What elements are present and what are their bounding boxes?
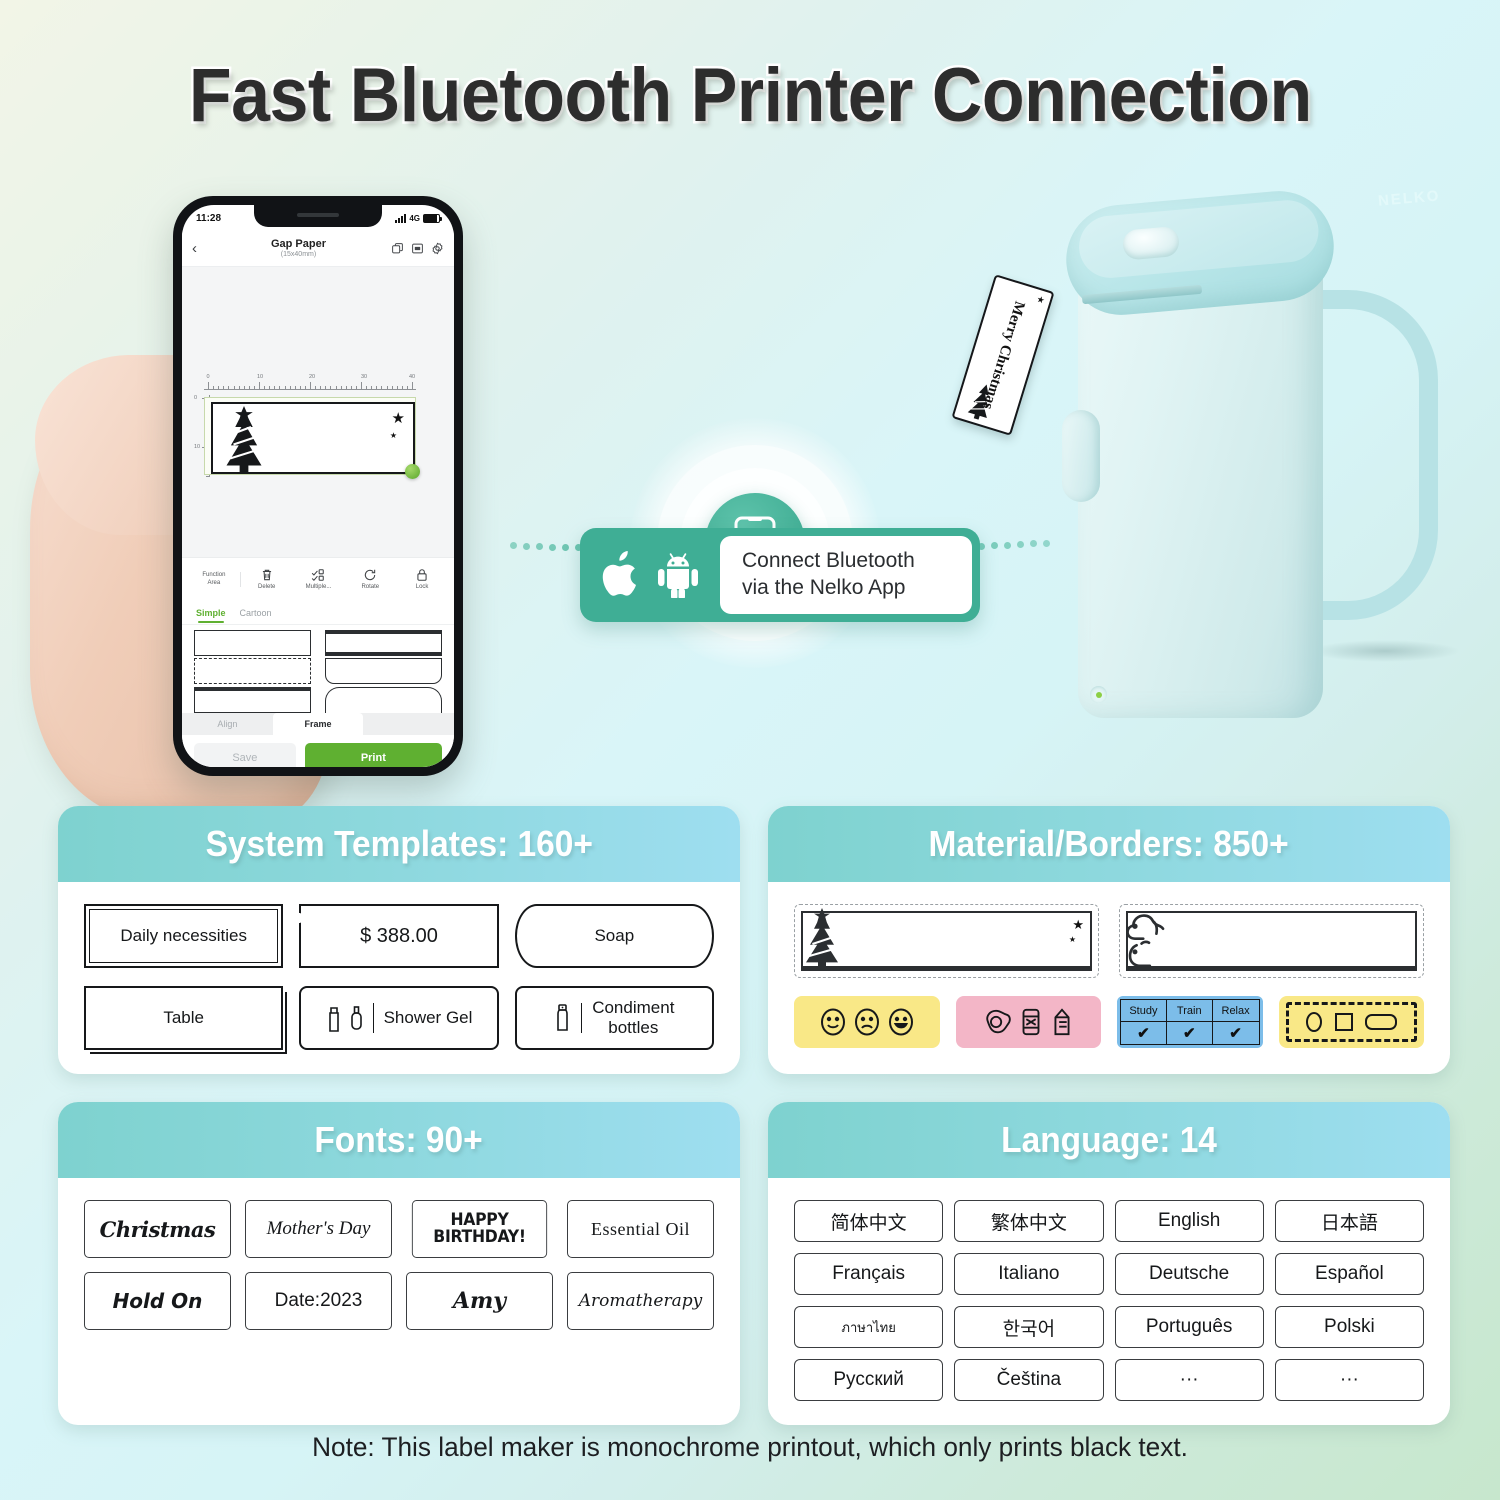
language-grid: 简体中文 繁体中文 English 日本語 Français Italiano …	[794, 1200, 1424, 1401]
star-large-icon: ★	[1072, 917, 1084, 933]
card-header: System Templates: 160+	[58, 806, 740, 882]
font-sample[interactable]: Essential Oil	[567, 1200, 714, 1258]
android-icon	[656, 552, 700, 598]
language-chip[interactable]: ···	[1115, 1359, 1264, 1401]
lock-icon	[415, 568, 429, 582]
battery-icon	[423, 214, 440, 223]
card-title: Material/Borders: 850+	[929, 823, 1289, 865]
card-header: Fonts: 90+	[58, 1102, 740, 1178]
panel-tabs: Align Frame	[182, 713, 454, 735]
page-title: Fast Bluetooth Printer Connection	[189, 52, 1312, 139]
apple-icon	[600, 550, 642, 600]
language-chip[interactable]: Español	[1275, 1253, 1424, 1295]
swatch-emoji[interactable]	[794, 996, 940, 1048]
ruler-h-tick: 0	[206, 374, 209, 380]
templates-grid: Daily necessities $ 388.00 Soap Table	[84, 904, 714, 1050]
checklist-table: Study Train Relax ✔ ✔ ✔	[1120, 999, 1260, 1045]
rounded-rect-shape-icon	[1364, 1012, 1398, 1032]
checklist-mark: ✔	[1167, 1022, 1213, 1044]
dog-icon	[1118, 904, 1180, 970]
frame-option[interactable]	[194, 687, 311, 713]
save-button[interactable]: Save	[194, 743, 296, 767]
delete-tool[interactable]: Delete	[241, 568, 293, 592]
trash-icon	[260, 568, 274, 582]
resize-handle[interactable]	[405, 464, 420, 479]
signal-icon	[395, 214, 406, 223]
material-swatches: Study Train Relax ✔ ✔ ✔	[794, 996, 1424, 1048]
language-chip[interactable]: 日本語	[1275, 1200, 1424, 1242]
checklist-mark: ✔	[1121, 1022, 1167, 1044]
font-sample[interactable]: Amy	[406, 1272, 553, 1330]
language-chip[interactable]: Italiano	[954, 1253, 1103, 1295]
network-label: 4G	[409, 214, 420, 223]
star-icon: ★	[1035, 294, 1046, 307]
star-large-icon: ★	[392, 411, 405, 426]
rotate-tool[interactable]: Rotate	[344, 568, 396, 592]
font-sample[interactable]: Mother's Day	[245, 1200, 392, 1258]
print-button[interactable]: Print	[305, 743, 442, 767]
smile-face-icon	[819, 1007, 847, 1037]
ruler-v-tick: 0	[194, 395, 197, 401]
printed-label-tape: ★ Merry Christmas	[951, 274, 1054, 436]
swatch-food[interactable]	[956, 996, 1102, 1048]
ruler-h-tick: 20	[309, 374, 315, 380]
printer-led-indicator	[1090, 686, 1107, 703]
card-fonts: Fonts: 90+ Christmas Mother's Day HAPPY …	[58, 1102, 740, 1425]
frame-option[interactable]	[194, 658, 311, 684]
checklist-mark: ✔	[1213, 1022, 1259, 1044]
star-small-icon: ★	[390, 432, 397, 440]
app-title: Gap Paper	[206, 239, 391, 251]
rotate-icon	[363, 568, 377, 582]
frame-option[interactable]	[194, 630, 311, 656]
font-sample[interactable]: HAPPY BIRTHDAY!	[412, 1200, 547, 1258]
label-preview[interactable]: ★ ★	[211, 402, 415, 474]
feature-cards: System Templates: 160+ Daily necessities…	[58, 806, 1450, 1425]
shaker-icon	[554, 1003, 582, 1033]
template-item[interactable]: Daily necessities	[84, 904, 283, 968]
lock-tool[interactable]: Lock	[396, 568, 448, 592]
function-toolbar: Function Area Delete Multiple...	[182, 557, 454, 601]
action-buttons: Save Print	[182, 735, 454, 767]
checklist-header: Study	[1121, 1000, 1167, 1021]
grin-face-icon	[887, 1007, 915, 1037]
language-chip[interactable]: ···	[1275, 1359, 1424, 1401]
square-shape-icon	[1333, 1011, 1355, 1033]
card-language: Language: 14 简体中文 繁体中文 English 日本語 Franç…	[768, 1102, 1450, 1425]
frown-face-icon	[853, 1007, 881, 1037]
language-chip[interactable]: Português	[1115, 1306, 1264, 1348]
frame-options-grid	[182, 625, 454, 713]
multi-select-icon	[311, 568, 325, 582]
border-templates: ★ ★	[794, 904, 1424, 978]
ruler-h-tick: 10	[257, 374, 263, 380]
smartphone: 11:28 4G ‹ Gap Paper (15x40mm)	[173, 196, 463, 776]
star-small-icon: ★	[1069, 935, 1076, 944]
ruler-horizontal: 0 10 20 30 40	[204, 375, 416, 391]
printer-shadow	[1310, 640, 1460, 662]
circle-shape-icon	[1304, 1010, 1324, 1034]
card-title: Fonts: 90+	[315, 1119, 483, 1161]
template-item[interactable]: Soap	[515, 904, 714, 968]
status-bar: 11:28 4G	[182, 205, 454, 231]
app-header: ‹ Gap Paper (15x40mm)	[182, 231, 454, 267]
shape-icon[interactable]	[391, 242, 404, 255]
language-chip[interactable]: 한국어	[954, 1306, 1103, 1348]
label-canvas[interactable]: 0 10 20 30 40 0 10	[182, 267, 454, 557]
printer-brand-logo: NELKO	[1377, 187, 1441, 209]
card-title: Language: 14	[1001, 1119, 1217, 1161]
app-subtitle: (15x40mm)	[206, 251, 391, 258]
font-samples-grid: Christmas Mother's Day HAPPY BIRTHDAY! E…	[84, 1200, 714, 1330]
ruler-h-tick: 30	[361, 374, 367, 380]
frame-option[interactable]	[325, 658, 442, 684]
font-sample[interactable]: Aromatherapy	[567, 1272, 714, 1330]
card-material-borders: Material/Borders: 850+ ★ ★	[768, 806, 1450, 1074]
card-system-templates: System Templates: 160+ Daily necessities…	[58, 806, 740, 1074]
back-icon[interactable]: ‹	[192, 241, 206, 256]
font-sample[interactable]: Hold On	[84, 1272, 231, 1330]
font-sample[interactable]: Christmas	[84, 1200, 231, 1258]
border-template-item[interactable]	[1119, 904, 1424, 978]
can-icon	[1018, 1007, 1044, 1037]
gear-icon[interactable]	[431, 242, 444, 255]
tab-spacer	[363, 713, 454, 735]
label-selection[interactable]: ★ ★	[204, 397, 416, 475]
status-time: 11:28	[196, 213, 221, 224]
template-item[interactable]: Table	[84, 986, 283, 1050]
hero-section: 11:28 4G ‹ Gap Paper (15x40mm)	[0, 160, 1500, 810]
bluetooth-text-line1: Connect Bluetooth	[742, 548, 972, 575]
language-chip[interactable]: 繁体中文	[954, 1200, 1103, 1242]
card-header: Material/Borders: 850+	[768, 806, 1450, 882]
template-item[interactable]: Shower Gel	[299, 986, 498, 1050]
card-header: Language: 14	[768, 1102, 1450, 1178]
image-icon[interactable]	[411, 242, 424, 255]
card-title: System Templates: 160+	[205, 823, 592, 865]
swatch-checklist[interactable]: Study Train Relax ✔ ✔ ✔	[1117, 996, 1263, 1048]
label-printer: NELKO ★ Merry Christmas	[1010, 170, 1470, 790]
frame-option[interactable]	[325, 630, 442, 656]
tab-simple[interactable]: Simple	[196, 608, 226, 618]
tab-frame[interactable]: Frame	[273, 713, 364, 735]
page-title-wrap: Fast Bluetooth Printer Connection	[0, 52, 1500, 139]
checklist-header: Train	[1167, 1000, 1213, 1021]
bluetooth-badge: Connect Bluetooth via the Nelko App	[580, 528, 980, 622]
template-item[interactable]: $ 388.00	[299, 904, 498, 968]
multiple-select-tool[interactable]: Multiple...	[293, 568, 345, 592]
language-chip[interactable]: Français	[794, 1253, 943, 1295]
footer-note: Note: This label maker is monochrome pri…	[23, 1432, 1478, 1463]
template-item[interactable]: Condiment bottles	[515, 986, 714, 1050]
bluetooth-text-line2: via the Nelko App	[742, 575, 972, 602]
language-chip[interactable]: Čeština	[954, 1359, 1103, 1401]
language-chip[interactable]: English	[1115, 1200, 1264, 1242]
tab-cartoon[interactable]: Cartoon	[240, 608, 272, 618]
language-chip[interactable]: ภาษาไทย	[794, 1306, 943, 1348]
ruler-v-tick: 10	[194, 444, 200, 450]
border-template-item[interactable]: ★ ★	[794, 904, 1099, 978]
christmas-tree-icon	[797, 908, 847, 972]
printer-roller	[1062, 410, 1100, 502]
language-chip[interactable]: Deutsche	[1115, 1253, 1264, 1295]
font-sample[interactable]: Date:2023	[245, 1272, 392, 1330]
frame-option[interactable]	[325, 687, 442, 713]
language-chip[interactable]: Русский	[794, 1359, 943, 1401]
style-tabs: Simple Cartoon	[182, 601, 454, 625]
christmas-tree-icon	[217, 406, 271, 476]
ruler-h-tick: 40	[409, 374, 415, 380]
swatch-shapes[interactable]	[1279, 996, 1425, 1048]
language-chip[interactable]: Polski	[1275, 1306, 1424, 1348]
checklist-header: Relax	[1213, 1000, 1259, 1021]
milk-carton-icon	[1050, 1007, 1074, 1037]
bottle-icon	[326, 1003, 374, 1033]
tab-align[interactable]: Align	[182, 713, 273, 735]
language-chip[interactable]: 简体中文	[794, 1200, 943, 1242]
egg-icon	[982, 1008, 1012, 1036]
function-area-label: Function Area	[188, 572, 241, 587]
printer-strap	[1310, 290, 1438, 620]
